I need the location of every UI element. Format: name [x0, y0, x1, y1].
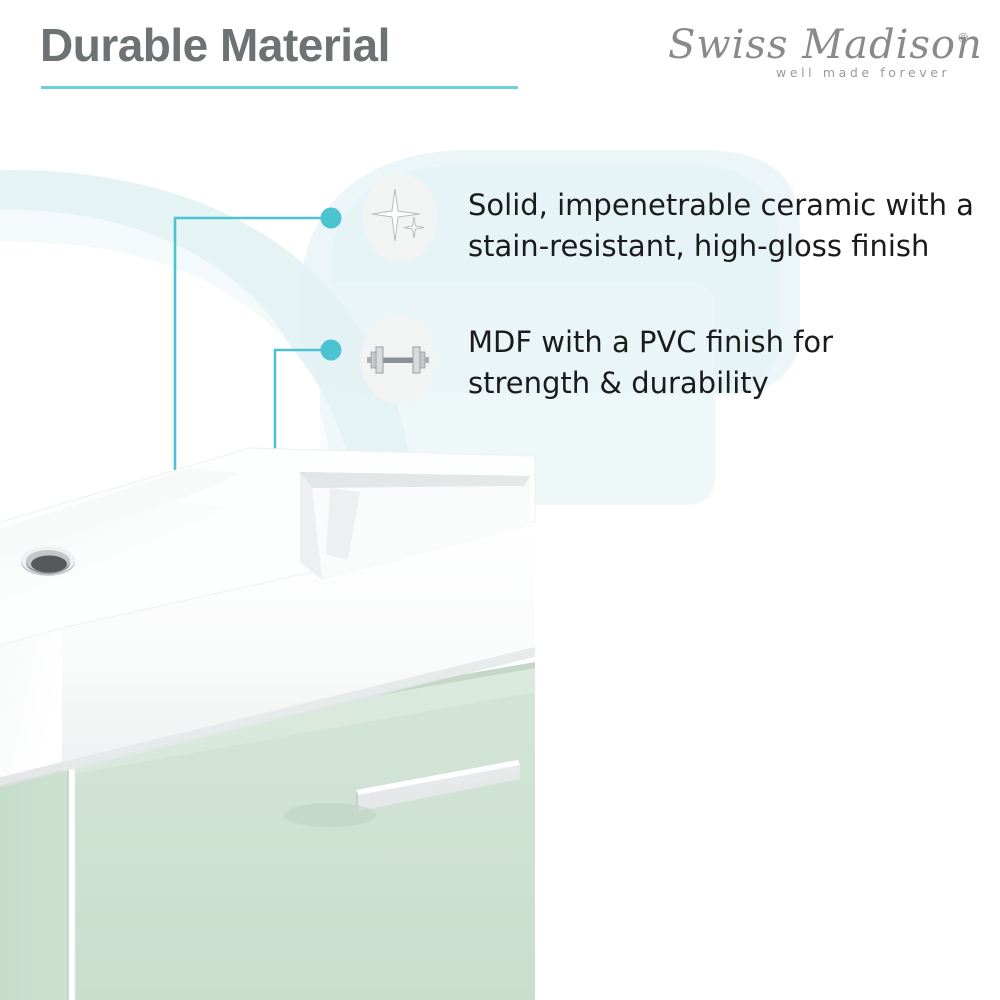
brand-name: Swiss Madison [668, 22, 958, 68]
dumbbell-icon [366, 340, 430, 380]
infographic-canvas: Durable Material Swiss Madison ® well ma… [0, 0, 1000, 1000]
callout-mdf-text: MDF with a PVC finish for strength & dur… [468, 322, 948, 404]
registered-trademark-icon: ® [958, 30, 968, 45]
product-image-vanity [0, 430, 560, 1000]
sparkle-icon [369, 187, 431, 249]
sparkle-icon-badge [363, 174, 437, 262]
page-title: Durable Material [40, 18, 390, 72]
dumbbell-icon-badge [361, 316, 435, 404]
brand-tagline: well made forever [776, 65, 950, 80]
callout-ceramic-text: Solid, impenetrable ceramic with a stain… [468, 185, 988, 267]
title-underline [41, 86, 518, 89]
brand-logo: Swiss Madison ® well made forever [668, 22, 968, 84]
